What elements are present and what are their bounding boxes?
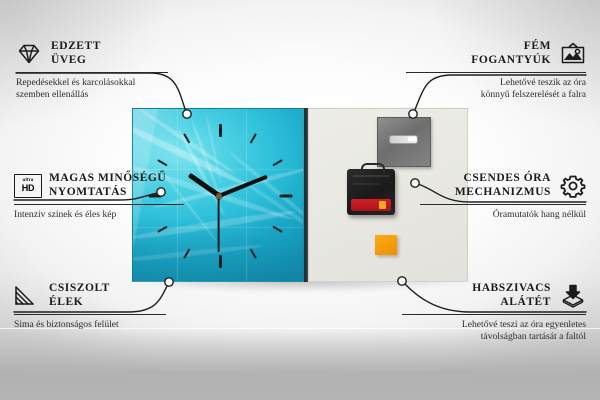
hour-marker — [219, 124, 222, 137]
callout-title: HABSZIVACS ALÁTÉT — [472, 282, 551, 309]
callout-polished-edges: CSISZOLT ÉLEK Sima és biztonságos felüle… — [14, 282, 166, 331]
callout-rule — [406, 72, 586, 73]
ultra-hd-icon: ultra HD — [14, 174, 40, 198]
hour-marker — [272, 159, 283, 166]
clock-center-cap — [216, 193, 222, 199]
callout-title: EDZETT ÜVEG — [51, 40, 101, 67]
picture-frame-icon — [560, 42, 586, 66]
mechanism-ridge — [353, 183, 379, 185]
minute-hand — [218, 175, 268, 198]
hanger-slot — [389, 135, 418, 144]
infographic-canvas: EDZETT ÜVEG Repedésekkel és karcolásokka… — [0, 0, 600, 400]
ultra-hd-bottom-label: HD — [22, 184, 35, 193]
callout-title: MAGAS MINŐSÉGŰ NYOMTATÁS — [49, 172, 166, 199]
beveled-edge-icon — [14, 284, 40, 308]
callout-rule — [14, 314, 166, 315]
callout-title: CSISZOLT ÉLEK — [49, 282, 110, 309]
callout-subtitle: Sima és biztonságos felület — [14, 319, 166, 331]
callout-rule — [16, 72, 168, 73]
callout-foam-pad: HABSZIVACS ALÁTÉT Lehetővé teszi az óra … — [402, 282, 586, 342]
callout-subtitle: Óramutatók hang nélkül — [420, 209, 586, 221]
mechanism-ridge — [353, 175, 389, 177]
callout-tempered-glass: EDZETT ÜVEG Repedésekkel és karcolásokka… — [16, 40, 168, 100]
callout-subtitle: Lehetővé teszik az óra könnyű felszerelé… — [406, 77, 586, 100]
second-hand — [218, 196, 220, 252]
hour-marker — [183, 248, 190, 259]
hour-marker — [250, 133, 257, 144]
callout-subtitle: Lehetővé teszi az óra egyenletes távolsá… — [402, 319, 586, 342]
callout-title: CSENDES ÓRA MECHANIZMUS — [455, 172, 551, 199]
battery-label — [351, 199, 391, 211]
hour-marker — [157, 226, 168, 233]
quartz-clock-mechanism — [347, 169, 395, 215]
callout-subtitle: Intenzív színek és éles kép — [14, 209, 184, 221]
hour-marker — [219, 255, 222, 268]
hour-marker — [157, 159, 168, 166]
callout-metal-handles: FÉM FOGANTYÚK Lehetővé teszik az óra kön… — [406, 40, 586, 100]
metal-hanger-plate — [377, 117, 431, 167]
hour-marker — [183, 133, 190, 144]
press-down-pad-icon — [560, 284, 586, 308]
hour-marker — [272, 226, 283, 233]
hour-marker — [280, 195, 293, 198]
callout-rule — [402, 314, 586, 315]
gear-icon — [560, 174, 586, 198]
callout-subtitle: Repedésekkel és karcolásokkal szemben el… — [16, 77, 168, 100]
callout-rule — [14, 204, 184, 205]
hour-marker — [250, 248, 257, 259]
callout-silent-mechanism: CSENDES ÓRA MECHANIZMUS Óramutatók hang … — [420, 172, 586, 221]
diamond-icon — [16, 42, 42, 66]
foam-spacer-pad — [375, 235, 397, 255]
callout-rule — [420, 204, 586, 205]
mechanism-hook — [361, 163, 385, 174]
callout-high-quality-print: ultra HD MAGAS MINŐSÉGŰ NYOMTATÁS Intenz… — [14, 172, 184, 221]
callout-title: FÉM FOGANTYÚK — [471, 40, 551, 67]
